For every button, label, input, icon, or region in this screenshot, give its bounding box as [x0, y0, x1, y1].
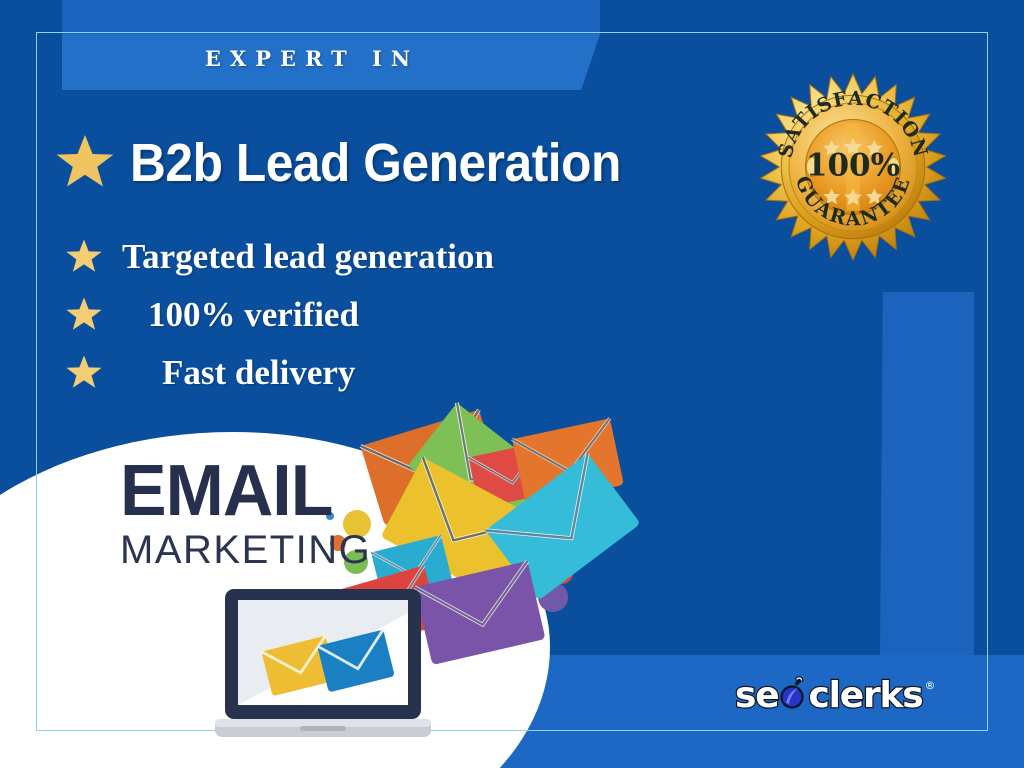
- email-marketing-illustration: [0, 0, 1024, 768]
- seoclerks-logo[interactable]: se clerks ®: [735, 673, 935, 716]
- email-marketing-wordmark: EMAIL MARKETING: [120, 458, 371, 573]
- seoclerks-logo-text-after: clerks: [808, 675, 922, 716]
- bomb-icon: [778, 673, 808, 707]
- poster-canvas: EXPERT IN B2b Lead Generation Targeted l…: [0, 0, 1024, 768]
- wordmark-line-1: EMAIL: [120, 458, 364, 526]
- wordmark-line-2: MARKETING: [120, 528, 371, 573]
- registered-trademark-icon: ®: [924, 679, 935, 692]
- seoclerks-logo-text-before: se: [735, 675, 778, 716]
